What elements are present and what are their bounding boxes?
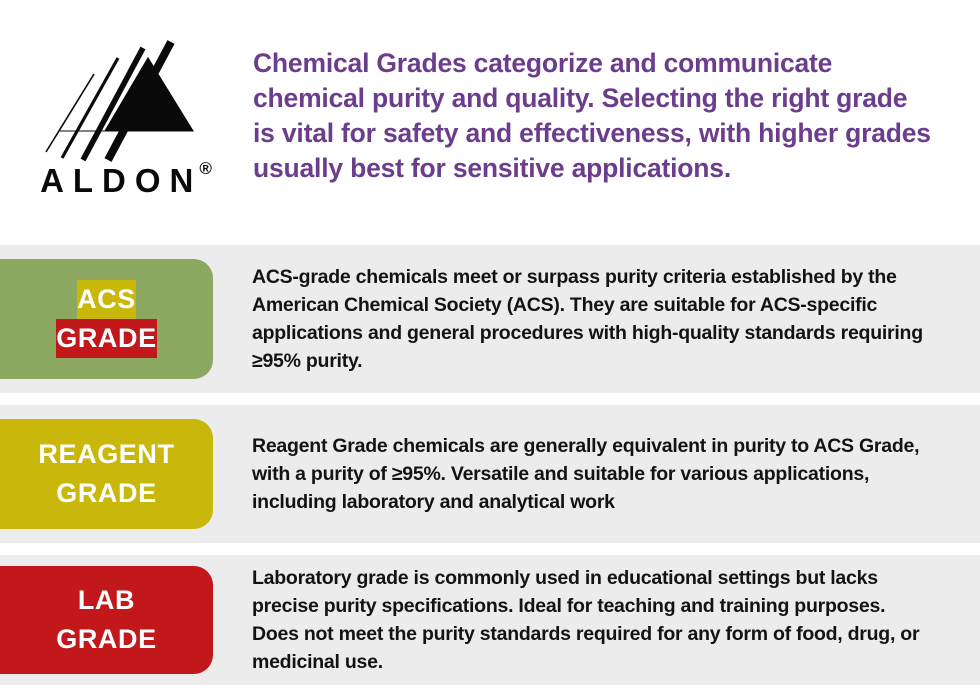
grade-description-lab: Laboratory grade is commonly used in edu… (213, 564, 980, 676)
header-text-block: Chemical Grades categorize and communica… (245, 0, 980, 186)
grade-badge-reagent[interactable]: REAGENT GRADE (0, 419, 213, 529)
page-headline: Chemical Grades categorize and communica… (253, 46, 932, 186)
grade-description-text: Laboratory grade is commonly used in edu… (252, 564, 936, 676)
grade-description-acs: ACS-grade chemicals meet or surpass puri… (213, 263, 980, 375)
grade-badge-line-2: GRADE (56, 620, 157, 659)
infographic-root: ALDON ® Chemical Grades categorize and c… (0, 0, 980, 700)
grade-row-reagent: REAGENT GRADE Reagent Grade chemicals ar… (0, 405, 980, 543)
grade-badge-line-1: LAB (78, 581, 135, 620)
header-section: ALDON ® Chemical Grades categorize and c… (0, 0, 980, 245)
logo-wordmark: ALDON ® (0, 164, 245, 197)
grade-description-text: Reagent Grade chemicals are generally eq… (252, 432, 936, 516)
row-divider-gap-1 (0, 393, 980, 405)
logo-word-text: ALDON (40, 164, 202, 197)
grade-row-acs: ACS GRADE ACS-grade chemicals meet or su… (0, 245, 980, 393)
logo-block: ALDON ® (0, 0, 245, 197)
grade-badge-line-2: GRADE (56, 474, 157, 513)
grade-description-reagent: Reagent Grade chemicals are generally eq… (213, 432, 980, 516)
grade-badge-line-2: GRADE (56, 319, 157, 358)
row-divider-gap-2 (0, 543, 980, 555)
registered-trademark-icon: ® (199, 160, 212, 177)
aldon-triangle-logo-icon (38, 32, 208, 162)
grade-row-lab: LAB GRADE Laboratory grade is commonly u… (0, 555, 980, 685)
grade-badge-lab[interactable]: LAB GRADE (0, 566, 213, 674)
grade-badge-acs[interactable]: ACS GRADE (0, 259, 213, 379)
grade-badge-line-1: REAGENT (38, 435, 174, 474)
grade-description-text: ACS-grade chemicals meet or surpass puri… (252, 263, 936, 375)
grade-badge-line-1: ACS (77, 280, 136, 319)
